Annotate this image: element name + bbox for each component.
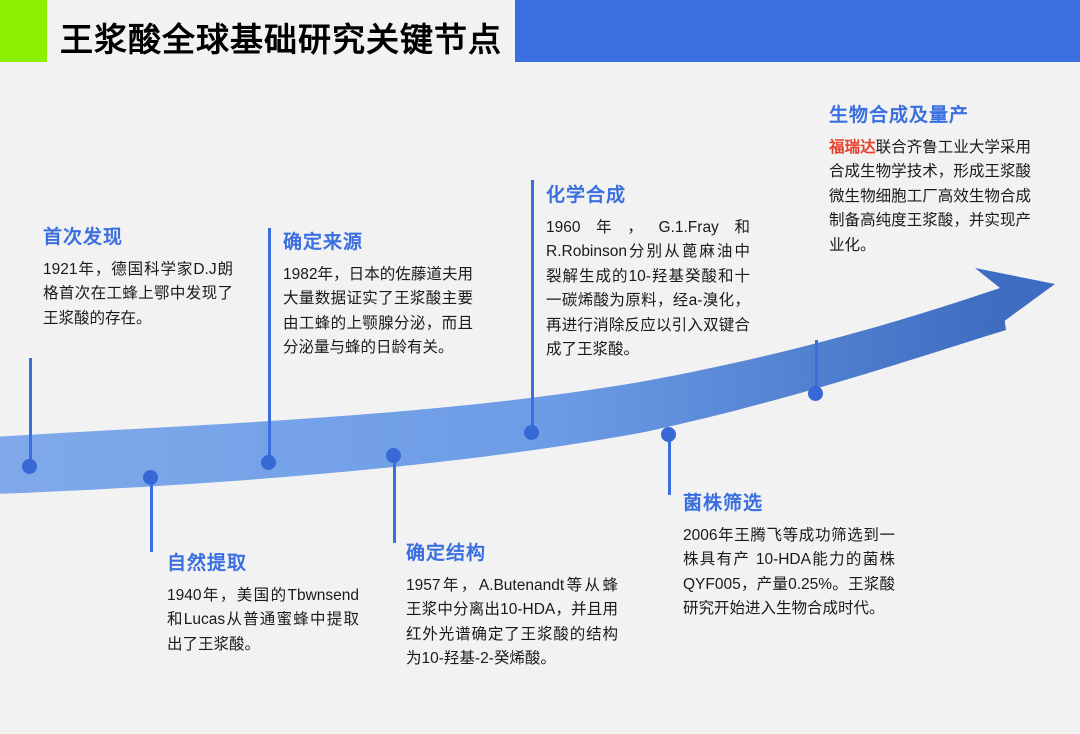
connector-line-source-confirmed [268,228,271,466]
connector-dot-chemical-synthesis [524,425,539,440]
connector-dot-structure-confirmed [386,448,401,463]
card-title: 生物合成及量产 [829,100,1031,127]
card-title: 自然提取 [167,548,359,575]
timeline-card-biosynthesis: 生物合成及量产 福瑞达联合齐鲁工业大学采用合成生物学技术，形成王浆酸微生物细胞工… [829,100,1031,258]
timeline-card-first-discovery: 首次发现 1921年，德国科学家D.J朗格首次在工蜂上鄂中发现了王浆酸的存在。 [43,222,233,331]
card-body: 1940年，美国的Tbwnsend和Lucas从普通蜜蜂中提取出了王浆酸。 [167,584,359,657]
timeline-card-strain-screening: 菌株筛选 2006年王腾飞等成功筛选到一株具有产 10-HDA能力的菌株QYF0… [683,488,895,622]
connector-line-natural-extraction [150,477,153,552]
connector-dot-strain-screening [661,427,676,442]
header-green-accent-block [0,0,47,62]
connector-dot-source-confirmed [261,455,276,470]
timeline-card-natural-extraction: 自然提取 1940年，美国的Tbwnsend和Lucas从普通蜜蜂中提取出了王浆… [167,548,359,657]
connector-line-first-discovery [29,358,32,470]
card-body: 1957年，A.Butenandt等从蜂王浆中分离出10-HDA，并且用红外光谱… [406,574,618,672]
connector-dot-natural-extraction [143,470,158,485]
card-title: 化学合成 [546,180,750,207]
card-title: 确定来源 [283,227,473,254]
card-body: 1982年，日本的佐藤道夫用大量数据证实了王浆酸主要由工蜂的上颚腺分泌，而且分泌… [283,263,473,361]
timeline-card-structure-confirmed: 确定结构 1957年，A.Butenandt等从蜂王浆中分离出10-HDA，并且… [406,538,618,672]
connector-dot-first-discovery [22,459,37,474]
card-title: 首次发现 [43,222,233,249]
connector-line-strain-screening [668,433,671,495]
header-blue-accent-block [515,0,1080,62]
page-title: 王浆酸全球基础研究关键节点 [60,12,510,62]
infographic-canvas: 王浆酸全球基础研究关键节点 首次发现 1921年，德国科学家D [0,0,1080,734]
card-body: 1960年，G.1.Fray和R.Robinson分别从蓖麻油中裂解生成的10-… [546,216,750,363]
card-body: 2006年王腾飞等成功筛选到一株具有产 10-HDA能力的菌株QYF005，产量… [683,524,895,622]
card-title: 确定结构 [406,538,618,565]
card-body: 1921年，德国科学家D.J朗格首次在工蜂上鄂中发现了王浆酸的存在。 [43,258,233,331]
card-body-text: 联合齐鲁工业大学采用合成生物学技术，形成王浆酸微生物细胞工厂高效生物合成制备高纯… [829,139,1031,254]
timeline-card-source-confirmed: 确定来源 1982年，日本的佐藤道夫用大量数据证实了王浆酸主要由工蜂的上颚腺分泌… [283,227,473,361]
card-body-highlight: 福瑞达 [829,139,876,156]
card-body: 福瑞达联合齐鲁工业大学采用合成生物学技术，形成王浆酸微生物细胞工厂高效生物合成制… [829,136,1031,258]
card-title: 菌株筛选 [683,488,895,515]
connector-line-chemical-synthesis [531,180,534,435]
connector-line-structure-confirmed [393,455,396,543]
connector-dot-biosynthesis [808,386,823,401]
timeline-card-chemical-synthesis: 化学合成 1960年，G.1.Fray和R.Robinson分别从蓖麻油中裂解生… [546,180,750,363]
